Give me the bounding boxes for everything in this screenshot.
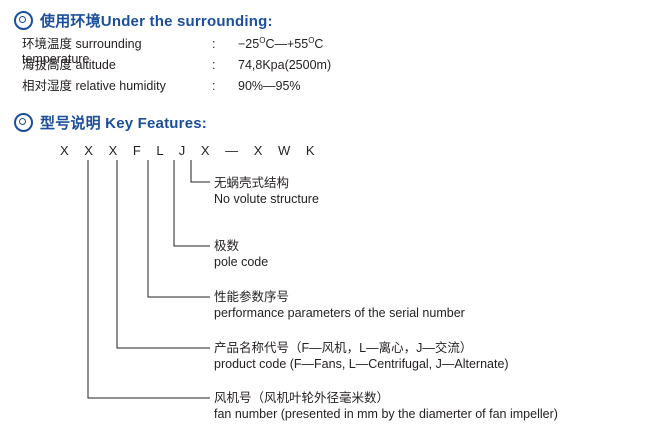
spec-value-part2: C—+55 <box>265 37 308 51</box>
spec-colon: : <box>212 58 238 72</box>
callout-cn: 性能参数序号 <box>214 289 465 305</box>
spec-label-cn: 环境温度 <box>22 37 72 51</box>
callout-en: No volute structure <box>214 191 319 207</box>
table-row: 环境温度 surrounding temperature : −25OC—+55… <box>22 33 442 54</box>
table-row: 海拔高度 altitude : 74,8Kpa(2500m) <box>22 54 442 75</box>
section-title-environment: 使用环境Under the surrounding: <box>40 10 273 31</box>
callout-product-code: 产品名称代号（F—风机，L—离心，J—交流） product code (F—F… <box>214 340 509 372</box>
callout-en: fan number (presented in mm by the diame… <box>214 406 558 422</box>
spec-label-cn: 海拔高度 <box>22 58 72 72</box>
callout-en: product code (F—Fans, L—Centrifugal, J—A… <box>214 356 509 372</box>
ring-icon <box>14 11 33 30</box>
callout-en: pole code <box>214 254 268 270</box>
spec-label-en: relative humidity <box>76 79 166 93</box>
spec-label: 相对湿度 relative humidity <box>22 75 212 94</box>
spec-label-cn: 相对湿度 <box>22 79 72 93</box>
callout-cn: 风机号（风机叶轮外径毫米数） <box>214 390 558 406</box>
table-row: 相对湿度 relative humidity : 90%—95% <box>22 75 442 96</box>
spec-label: 海拔高度 altitude <box>22 54 212 73</box>
spec-colon: : <box>212 37 238 51</box>
spec-colon: : <box>212 79 238 93</box>
callout-performance-parameters: 性能参数序号 performance parameters of the ser… <box>214 289 465 321</box>
spec-value-part1: −25 <box>238 37 259 51</box>
spec-value: 90%—95% <box>238 79 442 93</box>
environment-spec-table: 环境温度 surrounding temperature : −25OC—+55… <box>22 33 442 96</box>
document-page: 使用环境Under the surrounding: 环境温度 surround… <box>0 0 653 443</box>
callout-cn: 无蜗壳式结构 <box>214 175 319 191</box>
spec-value: 74,8Kpa(2500m) <box>238 58 442 72</box>
callout-pole-code: 极数 pole code <box>214 238 268 270</box>
spec-label-en: altitude <box>76 58 116 72</box>
callout-fan-number: 风机号（风机叶轮外径毫米数） fan number (presented in … <box>214 390 558 422</box>
spec-value-part3: C <box>314 37 323 51</box>
callout-no-volute-structure: 无蜗壳式结构 No volute structure <box>214 175 319 207</box>
callout-cn: 产品名称代号（F—风机，L—离心，J—交流） <box>214 340 509 356</box>
spec-value: −25OC—+55OC <box>238 36 442 51</box>
callout-cn: 极数 <box>214 238 268 254</box>
section-header-environment: 使用环境Under the surrounding: <box>14 10 273 31</box>
callout-en: performance parameters of the serial num… <box>214 305 465 321</box>
